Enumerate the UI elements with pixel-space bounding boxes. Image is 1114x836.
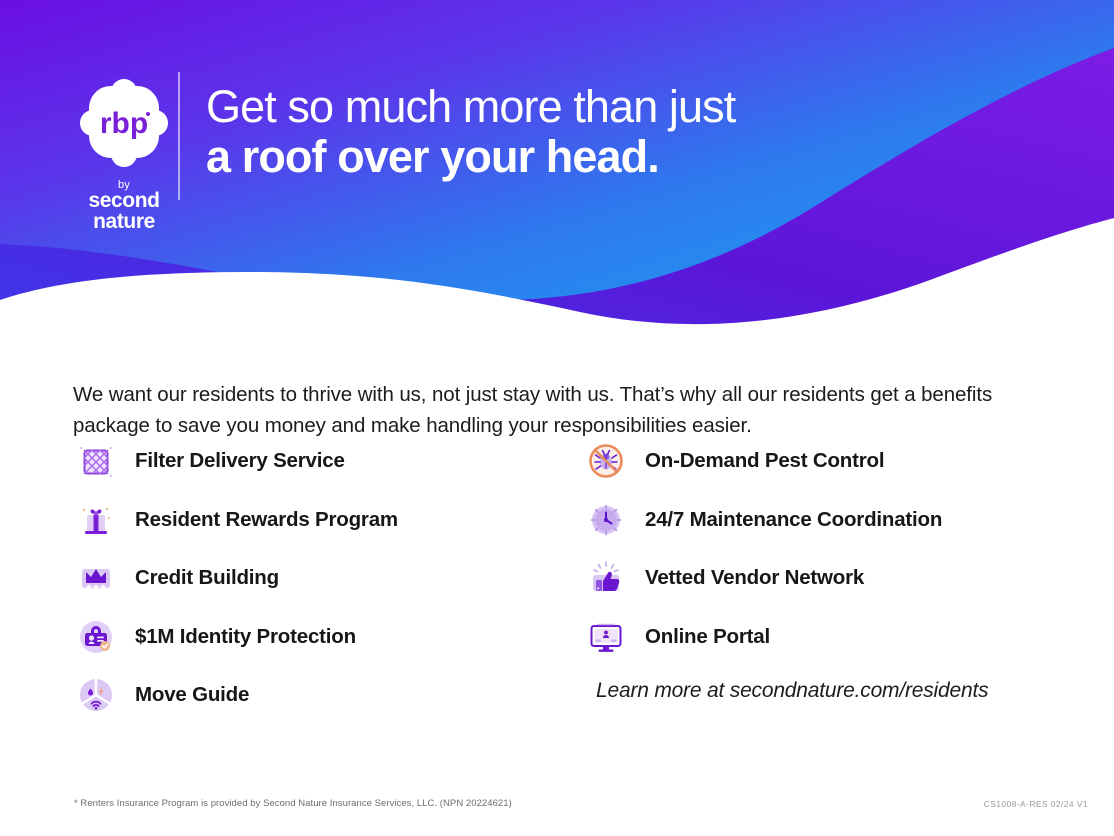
benefit-label: Resident Rewards Program [135,508,398,532]
filter-icon [73,438,119,484]
marketing-flyer: rbp by second nature Get so much more th… [0,0,1114,836]
benefit-label: Move Guide [135,683,249,707]
id-shield-icon [73,614,119,660]
thumbs-up-icon [583,555,629,601]
page-title: Get so much more than just a roof over y… [206,82,735,183]
benefit-filter-delivery-service: Filter Delivery Service [73,432,543,491]
benefits-column-right: On-Demand Pest Control [583,432,1053,666]
learn-more-text: Learn more at secondnature.com/residents [596,679,988,703]
benefit-label: Credit Building [135,566,279,590]
clock-icon [583,497,629,543]
benefit-pest-control: On-Demand Pest Control [583,432,1053,491]
benefit-online-portal: Online Portal [583,608,1053,667]
benefit-label: $1M Identity Protection [135,625,356,649]
legal-footnote: * Renters Insurance Program is provided … [74,798,512,809]
benefits-column-left: Filter Delivery Service [73,432,543,725]
benefit-label: 24/7 Maintenance Coordination [645,508,942,532]
rbp-wordmark: rbp [100,107,148,140]
benefit-maintenance-coordination: 24/7 Maintenance Coordination [583,491,1053,550]
header-banner: rbp by second nature Get so much more th… [0,0,1114,340]
benefit-move-guide: Move Guide [73,666,543,725]
vertical-divider [178,72,180,200]
benefit-credit-building: Credit Building [73,549,543,608]
monitor-icon [583,614,629,660]
document-code: CS1008-A-RES 02/24 V1 [984,799,1088,809]
gift-icon [73,497,119,543]
brand-name-line1: second [88,189,159,212]
benefit-label: Filter Delivery Service [135,449,345,473]
headline-line-2: a roof over your head. [206,132,735,182]
benefit-identity-protection: $1M Identity Protection [73,608,543,667]
brand-logo: rbp by second nature [63,76,185,232]
benefit-resident-rewards-program: Resident Rewards Program [73,491,543,550]
rbp-logo-mark: rbp [76,76,172,172]
crown-badge-icon [73,555,119,601]
headline-line-1: Get so much more than just [206,82,735,132]
no-pest-icon [583,438,629,484]
benefit-label: Online Portal [645,625,770,649]
benefit-vetted-vendor-network: Vetted Vendor Network [583,549,1053,608]
brand-tagline: by second nature [63,176,185,232]
benefit-label: On-Demand Pest Control [645,449,884,473]
utilities-circle-icon [73,672,119,718]
brand-name-line2: nature [63,212,185,232]
benefit-label: Vetted Vendor Network [645,566,864,590]
